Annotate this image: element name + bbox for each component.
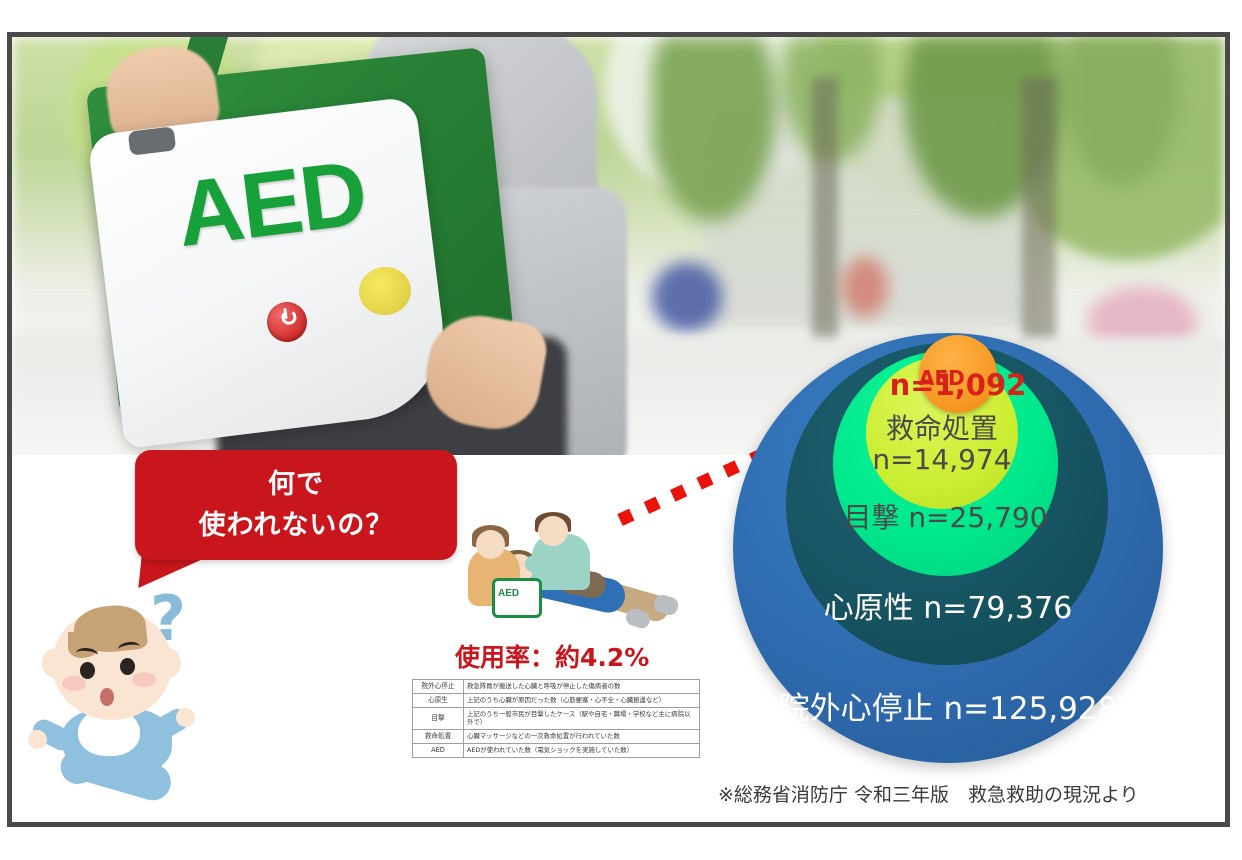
baby-eye-right	[120, 658, 135, 675]
table-row: 救命処置 心臓マッサージなどの一次救命処置が行われていた数	[413, 730, 700, 744]
nested-circle-chart: AED n=1,092 救命処置n=14,974 目撃 n=25,790 心原性…	[733, 315, 1163, 785]
helper-head	[476, 530, 505, 559]
baby-illustration	[22, 596, 212, 796]
circle-aed-value: n=1,092	[883, 370, 1033, 401]
definition-table: 院外心停止 救急隊員が搬送した心臓と呼吸が停止した傷病者の数 心原生 上記のうち…	[412, 679, 700, 758]
circle-witnessed-label: 目撃 n=25,790	[828, 503, 1063, 533]
aed-case-label: AED	[498, 588, 519, 599]
table-cell-key: 救命処置	[413, 730, 464, 744]
table-cell-key: 心原生	[413, 693, 464, 707]
baby-cheek-left	[62, 676, 86, 691]
baby-mouth	[100, 688, 114, 706]
baby-hand-left	[28, 730, 47, 749]
circle-cardiac-label: 心原性 n=79,376	[803, 593, 1093, 625]
usage-rate-text: 使用率：約4.2%	[455, 638, 649, 674]
circle-rescue-label: 救命処置n=14,974	[872, 413, 1012, 476]
circle-rescue-value: n=14,974	[872, 443, 1011, 476]
table-row: 院外心停止 救急隊員が搬送した心臓と呼吸が停止した傷病者の数	[413, 680, 700, 694]
baby-eye-left	[80, 662, 95, 679]
baby-cheek-right	[132, 672, 156, 687]
baby-hand-right	[176, 708, 195, 727]
circle-ohca-label: 院外心停止 n=125,928	[748, 693, 1148, 726]
table-cell-key: AED	[413, 743, 464, 757]
table-row: 心原生 上記のうち心臓が原因だった数（心筋梗塞・心不全・心臓振盪など）	[413, 693, 700, 707]
table-cell-key: 目撃	[413, 707, 464, 729]
table-cell-value: 上記のうち一般市民が目撃したケース（駅や自宅・職場・学校など主に病院以外で）	[464, 707, 700, 729]
table-cell-value: AEDが使われていた数（電気ショックを実施していた数）	[464, 743, 700, 757]
person-holding-aed: AED	[67, 37, 587, 457]
circle-rescue-name: 救命処置	[886, 412, 998, 445]
photo-red-blob	[842, 257, 888, 317]
table-row: AED AEDが使われていた数（電気ショックを実施していた数）	[413, 743, 700, 757]
cpr-illustration: AED	[458, 508, 673, 643]
source-note: ※総務省消防庁 令和三年版 救急救助の現況より	[718, 780, 1139, 807]
speech-bubble-line-1: 何で	[268, 471, 324, 498]
table-cell-value: 救急隊員が搬送した心臓と呼吸が停止した傷病者の数	[464, 680, 700, 694]
photo-blue-blob	[652, 262, 722, 332]
speech-bubble: 何で 使われないの？	[135, 450, 457, 560]
table-cell-key: 院外心停止	[413, 680, 464, 694]
table-row: 目撃 上記のうち一般市民が目撃したケース（駅や自宅・職場・学校など主に病院以外で…	[413, 707, 700, 729]
slide-canvas: AED 何で 使われないの？ ?	[0, 0, 1242, 860]
speech-bubble-line-2: 使われないの？	[199, 512, 394, 539]
table-cell-value: 上記のうち心臓が原因だった数（心筋梗塞・心不全・心臓振盪など）	[464, 693, 700, 707]
table-cell-value: 心臓マッサージなどの一次救命処置が行われていた数	[464, 730, 700, 744]
rescuer-head	[538, 516, 568, 546]
